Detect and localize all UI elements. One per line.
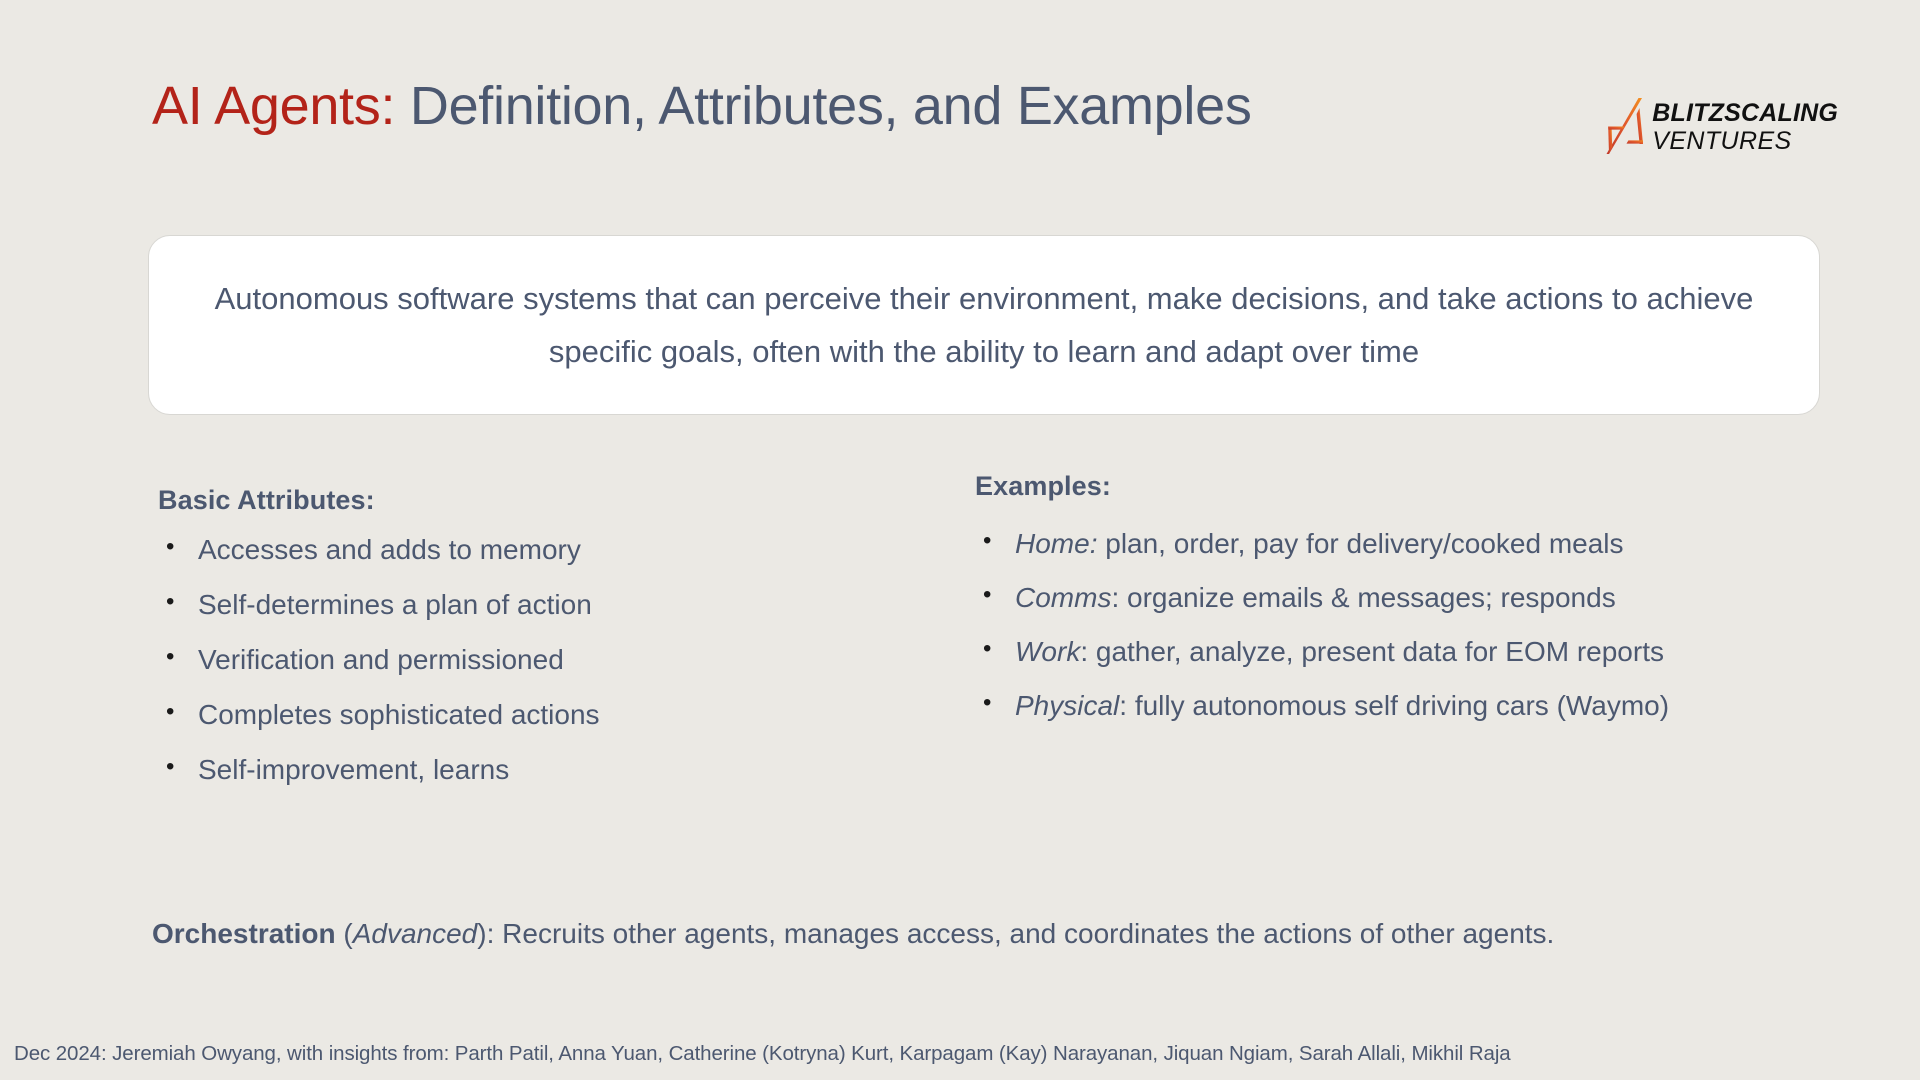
list-item: Accesses and adds to memory xyxy=(158,536,878,564)
list-item: Work: gather, analyze, present data for … xyxy=(975,638,1805,666)
logo-line-ventures: VENTURES xyxy=(1652,129,1838,154)
page-title-rest: Definition, Attributes, and Examples xyxy=(395,76,1251,136)
slide-footer-credits: Dec 2024: Jeremiah Owyang, with insights… xyxy=(14,1042,1511,1066)
orchestration-paren-open: ( xyxy=(336,918,353,949)
orchestration-qualifier: Advanced xyxy=(353,918,478,949)
basic-attributes-list: Accesses and adds to memory Self-determi… xyxy=(158,536,878,784)
examples-column: Examples: Home: plan, order, pay for del… xyxy=(975,485,1805,746)
definition-card: Autonomous software systems that can per… xyxy=(148,235,1820,415)
list-item: Home: plan, order, pay for delivery/cook… xyxy=(975,530,1805,558)
list-item: Verification and permissioned xyxy=(158,646,878,674)
list-item-label: : organize emails & messages; responds xyxy=(1111,582,1615,613)
list-item-label: Verification and permissioned xyxy=(198,644,564,675)
list-item-lead: Physical xyxy=(1015,690,1119,721)
list-item-label: Accesses and adds to memory xyxy=(198,534,581,565)
list-item-lead: Work xyxy=(1015,636,1080,667)
logo-wordmark: BLITZSCALING VENTURES xyxy=(1652,101,1838,154)
definition-text: Autonomous software systems that can per… xyxy=(203,272,1765,379)
list-item-lead: Home: xyxy=(1015,528,1097,559)
list-item-label: : gather, analyze, present data for EOM … xyxy=(1080,636,1664,667)
examples-list: Home: plan, order, pay for delivery/cook… xyxy=(975,530,1805,720)
basic-attributes-heading: Basic Attributes: xyxy=(158,485,878,516)
orchestration-description: : Recruits other agents, manages access,… xyxy=(487,918,1555,949)
logo-line-blitzscaling: BLITZSCALING xyxy=(1652,101,1838,126)
orchestration-note: Orchestration (Advanced): Recruits other… xyxy=(152,918,1554,950)
brand-logo: BLITZSCALING VENTURES xyxy=(1606,96,1838,158)
list-item: Physical: fully autonomous self driving … xyxy=(975,692,1805,720)
list-item-lead: Comms xyxy=(1015,582,1111,613)
basic-attributes-column: Basic Attributes: Accesses and adds to m… xyxy=(158,485,878,811)
list-item-label: Self-improvement, learns xyxy=(198,754,509,785)
list-item-label: plan, order, pay for delivery/cooked mea… xyxy=(1097,528,1623,559)
page-title-accent: AI Agents: xyxy=(152,76,395,136)
list-item: Self-determines a plan of action xyxy=(158,591,878,619)
orchestration-label: Orchestration xyxy=(152,918,336,949)
list-item: Comms: organize emails & messages; respo… xyxy=(975,584,1805,612)
list-item-label: : fully autonomous self driving cars (Wa… xyxy=(1119,690,1669,721)
list-item-label: Completes sophisticated actions xyxy=(198,699,600,730)
examples-heading: Examples: xyxy=(975,471,1805,502)
list-item: Self-improvement, learns xyxy=(158,756,878,784)
list-item: Completes sophisticated actions xyxy=(158,701,878,729)
orchestration-paren-close: ) xyxy=(477,918,486,949)
blitzscaling-arrow-mark-icon xyxy=(1606,96,1646,158)
list-item-label: Self-determines a plan of action xyxy=(198,589,592,620)
